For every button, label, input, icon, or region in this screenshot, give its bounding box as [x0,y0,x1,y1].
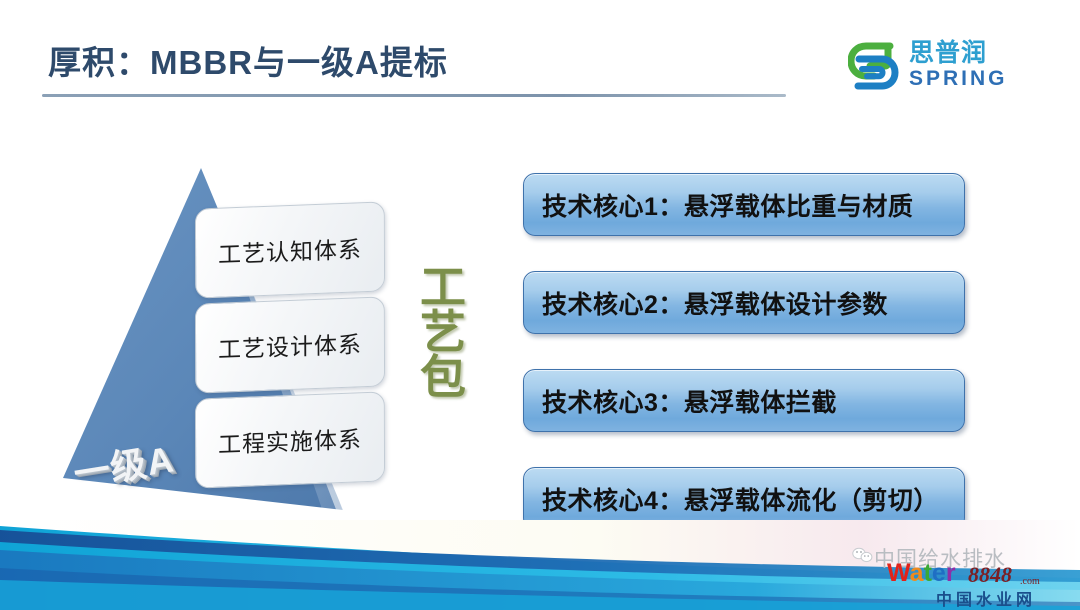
brand-logo: 思普润 SPRING [848,36,1023,94]
pyramid-layer-1-label: 工艺认知体系 [218,230,362,270]
core-item-1[interactable]: 技术核心1：悬浮载体比重与材质 [523,173,965,236]
brand-name-cn: 思普润 [909,41,1008,66]
process-package-label: 工 艺 包 [412,265,474,400]
pyramid-layer-2: 工艺设计体系 [195,296,385,393]
watermark-brand-letter-1: W [887,559,910,587]
process-package-char-2: 艺 [412,310,474,355]
brand-name-en: SPRING [909,68,1008,89]
process-package-char-3: 包 [412,355,474,400]
watermark-brand-letter-3: t [924,559,932,587]
process-package-char-1: 工 [412,265,474,310]
site-watermark: 中国给水排水 Water 8848 .com 中国水业网 [852,543,1067,605]
pyramid-layer-3-label: 工程实施体系 [218,420,362,460]
title-divider [42,94,786,97]
pyramid-layer-2-label: 工艺设计体系 [218,325,362,365]
core-item-2-label: 技术核心2：悬浮载体设计参数 [542,285,888,321]
chat-faces-icon [852,546,874,564]
core-item-4-label: 技术核心4：悬浮载体流化（剪切） [542,481,939,517]
spring-logo-mark-icon [848,39,900,91]
core-item-1-label: 技术核心1：悬浮载体比重与材质 [542,187,913,223]
watermark-bottom-text: 中国水业网 [936,586,1036,610]
process-pyramid: 工艺认知体系 工艺设计体系 工程实施体系 一级A [55,160,415,535]
brand-logo-wordmark: 思普润 SPRING [909,41,1008,89]
pyramid-layer-3: 工程实施体系 [195,391,385,488]
watermark-brand: Water [887,561,956,586]
core-item-3-label: 技术核心3：悬浮载体拦截 [542,383,837,419]
page-title: 厚积：MBBR与一级A提标 [48,36,448,84]
core-item-3[interactable]: 技术核心3：悬浮载体拦截 [523,369,965,432]
watermark-brand-letter-4: e [932,559,946,587]
core-item-2[interactable]: 技术核心2：悬浮载体设计参数 [523,271,965,334]
pyramid-layer-1: 工艺认知体系 [195,201,385,298]
watermark-brand-number: 8848 [968,564,1012,586]
watermark-brand-letter-2: a [910,559,924,587]
watermark-brand-letter-5: r [946,559,956,587]
slide-canvas: 厚积：MBBR与一级A提标 思普润 SPRING [0,0,1080,610]
